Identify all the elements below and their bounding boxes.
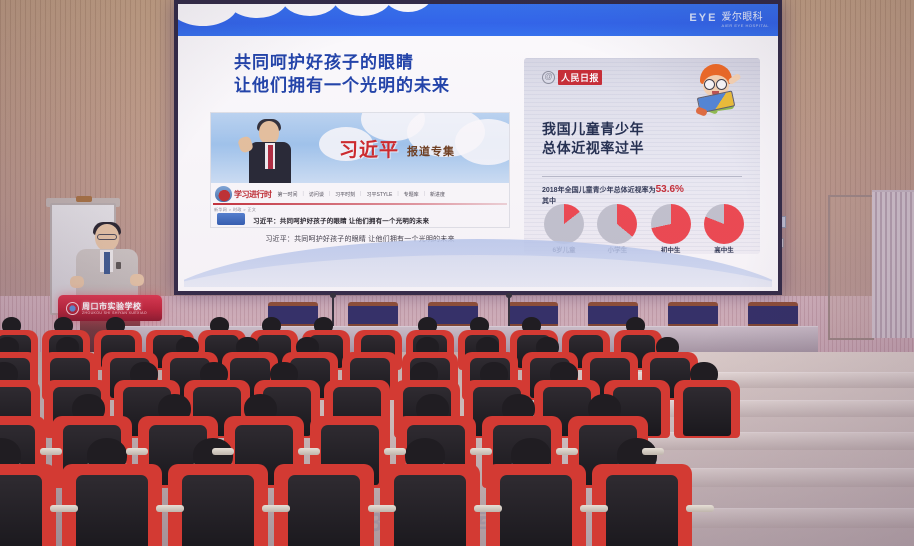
portrait-head — [259, 121, 279, 144]
seat-armrest — [262, 505, 290, 512]
boy-glasses-right-icon — [716, 79, 727, 90]
lead-prefix: 2018年全国儿童青少年总体近视率为 — [542, 187, 656, 194]
nav-item[interactable]: 新进度 — [430, 191, 445, 198]
seat-armrest — [156, 505, 184, 512]
banner-title: 习近平 — [339, 135, 399, 162]
speaker-person — [74, 224, 140, 300]
seat-cushion — [0, 475, 42, 546]
cloud-shape — [332, 4, 392, 16]
nav-item[interactable]: 习平STYLE — [366, 191, 392, 198]
seat-armrest — [580, 505, 608, 512]
overall-rate-value: 53.6% — [656, 184, 684, 195]
news-headline: 习近平：共同呵护好孩子的眼睛 让他们拥有一个光明的未来 — [253, 215, 505, 225]
cloud-shape — [282, 4, 338, 16]
speaker-hand — [130, 274, 144, 286]
news-banner: 习近平 报道专集 — [211, 113, 509, 183]
news-site-logo: 学习进行时 — [215, 186, 272, 202]
seat-armrest — [384, 448, 406, 455]
site-logo-icon — [215, 186, 232, 202]
seat-cushion — [683, 387, 731, 436]
banner-subtitle: 报道专集 — [407, 143, 455, 159]
seat-cushion — [76, 475, 148, 546]
pie-chart — [704, 204, 744, 244]
seat-armrest — [126, 448, 148, 455]
auditorium-seat — [0, 464, 56, 546]
navbar-divider — [213, 203, 507, 205]
seat-armrest — [368, 505, 396, 512]
infographic-heading: 我国儿童青少年 总体近视率过半 — [542, 120, 644, 159]
pie-chart — [651, 204, 691, 244]
slide-header-band: EYE 爱尔眼科 AIER EYE HOSPITAL — [178, 4, 778, 36]
seat-armrest — [298, 448, 320, 455]
slide-title: 共同呵护好孩子的眼睛 让他们拥有一个光明的未来 — [234, 52, 450, 98]
presentation-slide: EYE 爱尔眼科 AIER EYE HOSPITAL 共同呵护好孩子的眼睛 让他… — [178, 4, 778, 291]
news-site-navbar: 学习进行时 第一时间| 访问谈| 习平时刻| 习平STYLE| 专题库| 新进度 — [211, 183, 509, 205]
source-name: 人民日报 — [558, 70, 602, 85]
seat-armrest — [686, 505, 714, 512]
site-logo-text: 学习进行时 — [234, 189, 272, 200]
nav-item[interactable]: 访问谈 — [309, 191, 324, 198]
microphone — [508, 296, 510, 326]
boy-glasses-left-icon — [704, 79, 715, 90]
infographic-heading-line2: 总体近视率过半 — [542, 139, 644, 158]
school-seal-icon — [66, 302, 79, 315]
radiator — [872, 190, 914, 338]
aisle-step — [630, 432, 914, 450]
infographic-divider — [542, 176, 742, 177]
seat-armrest — [474, 505, 502, 512]
seat-cushion — [500, 475, 572, 546]
seat-armrest — [470, 448, 492, 455]
cloud-shape — [384, 4, 432, 12]
slide-title-line2: 让他们拥有一个光明的未来 — [234, 75, 450, 98]
stage-chair — [348, 302, 398, 328]
speaker-glasses-icon — [97, 234, 117, 240]
seat-cushion — [288, 475, 360, 546]
brand-name-cn: 爱尔眼科 — [721, 12, 763, 23]
pie-chart — [544, 204, 584, 244]
whiteboard-clip-icon — [76, 196, 92, 202]
seat-armrest — [556, 448, 578, 455]
seat-armrest — [40, 448, 62, 455]
stage-chair — [748, 302, 798, 328]
nav-item[interactable]: 专题库 — [404, 191, 419, 198]
pie-chart-item: 高中生81.0% — [698, 204, 750, 254]
news-nav-items: 第一时间| 访问谈| 习平时刻| 习平STYLE| 专题库| 新进度 — [278, 191, 445, 198]
pie-category-label: 高中生 — [698, 247, 750, 254]
cartoon-boy-illustration — [690, 62, 744, 118]
infographic-heading-line1: 我国儿童青少年 — [542, 120, 644, 139]
portrait-tie — [268, 145, 273, 169]
eye-logo-mark: EYE — [689, 12, 717, 24]
speaker-badge — [116, 262, 121, 269]
seat-armrest — [642, 448, 664, 455]
aier-logo: EYE 爱尔眼科 AIER EYE HOSPITAL — [689, 8, 769, 28]
side-door — [828, 195, 874, 340]
brand-name-sub: AIER EYE HOSPITAL — [721, 23, 769, 28]
speaker-tie — [104, 252, 110, 274]
leader-portrait — [241, 121, 299, 183]
cloud-shape — [226, 4, 288, 18]
infographic-panel: @ 人民日报 — [524, 58, 760, 254]
seat-cushion — [182, 475, 254, 546]
pie-chart — [597, 204, 637, 244]
projection-screen: EYE 爱尔眼科 AIER EYE HOSPITAL 共同呵护好孩子的眼睛 让他… — [174, 0, 782, 295]
auditorium-scene: EYE 爱尔眼科 AIER EYE HOSPITAL 共同呵护好孩子的眼睛 让他… — [0, 0, 914, 546]
infographic-source: @ 人民日报 — [542, 70, 602, 85]
slide-content: 共同呵护好孩子的眼睛 让他们拥有一个光明的未来 — [184, 38, 772, 287]
pie-chart-item: 初中生71.6% — [645, 204, 697, 254]
auditorium-seat — [674, 380, 740, 438]
slide-title-line1: 共同呵护好孩子的眼睛 — [234, 52, 450, 75]
speaker-hand — [70, 276, 84, 288]
podium-school-pinyin: ZHOUKOU SHI SHIYAN XUEXIAO — [82, 311, 156, 315]
nav-item[interactable]: 习平时刻 — [335, 191, 355, 198]
nav-item[interactable]: 第一时间 — [278, 191, 298, 198]
stage-chair — [668, 302, 718, 328]
seat-cushion — [394, 475, 466, 546]
seat-armrest — [50, 505, 78, 512]
at-icon: @ — [542, 71, 555, 84]
seat-cushion — [606, 475, 678, 546]
news-source-badge — [217, 213, 245, 225]
cloud-shape — [455, 119, 509, 165]
news-screenshot-card: 习近平 报道专集 学习进行时 第一时间| 访问谈| 习平时刻| 习平STYLE| — [210, 112, 510, 228]
seat-armrest — [212, 448, 234, 455]
